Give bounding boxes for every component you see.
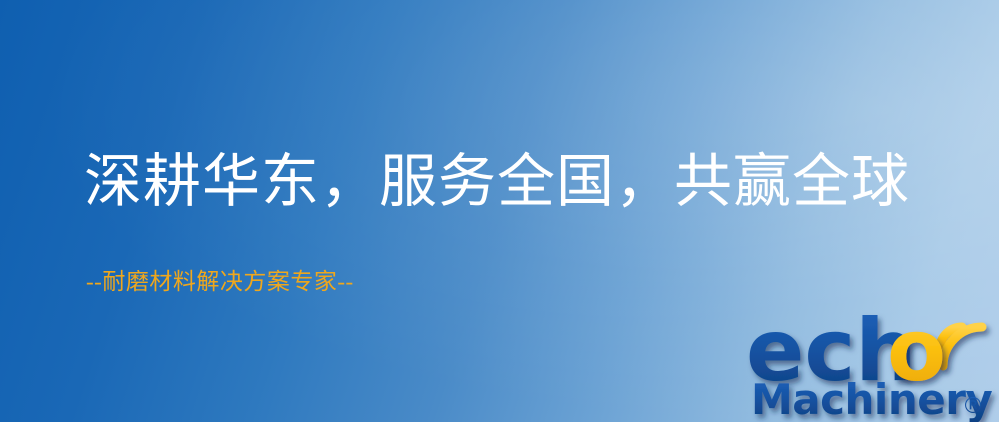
- wifi-signal-arcs-icon: [940, 327, 982, 366]
- logo-wordmark-machinery: Machinery: [751, 375, 992, 422]
- echo-machinery-logo[interactable]: ech o Machinery ®: [744, 296, 999, 422]
- banner-headline: 深耕华东，服务全国，共赢全球: [84, 152, 910, 213]
- banner-subheadline: --耐磨材料解决方案专家--: [86, 268, 354, 296]
- logo-registered-mark: ®: [962, 394, 984, 419]
- promotional-banner: 深耕华东，服务全国，共赢全球 --耐磨材料解决方案专家--: [0, 0, 999, 422]
